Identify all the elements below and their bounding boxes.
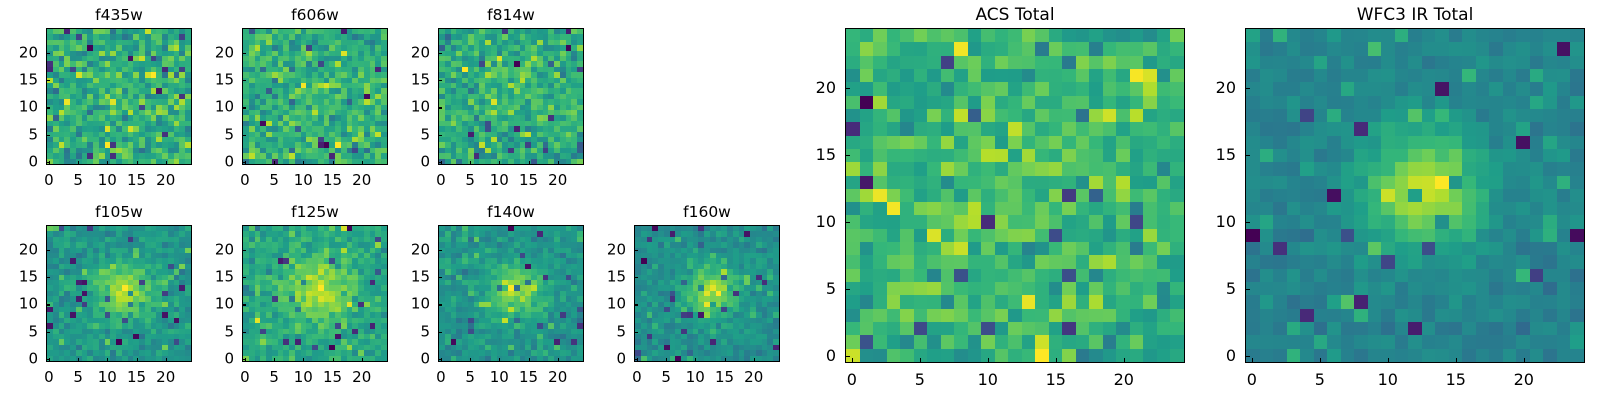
xtick-mark-f125w-5 (274, 358, 275, 362)
ytick-mark-acs-total-20 (845, 88, 850, 89)
xtick-mark-wfc3-ir-total-5 (1320, 358, 1321, 363)
xtick-mark-f435w-5 (78, 161, 79, 165)
panel-title-f105w: f105w (46, 203, 192, 221)
xtick-mark-f160w-15 (725, 358, 726, 362)
xtick-label-f814w-5: 5 (465, 173, 475, 188)
xtick-label-wfc3-ir-total-15: 15 (1446, 372, 1466, 388)
axes-f140w (438, 225, 584, 362)
ytick-mark-f125w-5 (242, 332, 246, 333)
xtick-label-f105w-0: 0 (44, 370, 54, 385)
heatmap-f125w (243, 226, 387, 361)
ytick-mark-f814w-20 (438, 53, 442, 54)
panel-f435w: f435w0510152005101520 (46, 4, 192, 191)
xtick-mark-acs-total-15 (1056, 358, 1057, 363)
xtick-label-acs-total-20: 20 (1114, 372, 1134, 388)
ytick-mark-acs-total-0 (845, 356, 850, 357)
axes-f606w (242, 28, 388, 165)
xtick-label-f160w-15: 15 (715, 370, 734, 385)
xtick-label-f606w-15: 15 (323, 173, 342, 188)
panel-title-f140w: f140w (438, 203, 584, 221)
xtick-label-f814w-20: 20 (548, 173, 567, 188)
heatmap-f435w (47, 29, 191, 164)
xtick-mark-f105w-0 (49, 358, 50, 362)
panel-f105w: f105w0510152005101520 (46, 201, 192, 388)
xtick-label-f160w-20: 20 (744, 370, 763, 385)
xtick-label-f125w-5: 5 (269, 370, 279, 385)
xtick-mark-f160w-20 (754, 358, 755, 362)
heatmap-wfc3-ir-total (1246, 29, 1584, 362)
xtick-mark-f606w-5 (274, 161, 275, 165)
ytick-mark-f160w-5 (634, 332, 638, 333)
xtick-mark-f140w-20 (558, 358, 559, 362)
heatmap-f140w (439, 226, 583, 361)
axes-wfc3-ir-total (1245, 28, 1585, 363)
xtick-mark-f160w-5 (666, 358, 667, 362)
ytick-mark-wfc3-ir-total-5 (1245, 289, 1250, 290)
xtick-label-f606w-10: 10 (294, 173, 313, 188)
ytick-mark-f125w-15 (242, 277, 246, 278)
xtick-label-f160w-5: 5 (661, 370, 671, 385)
axes-f435w (46, 28, 192, 165)
xtick-label-f140w-20: 20 (548, 370, 567, 385)
axes-f814w (438, 28, 584, 165)
xtick-label-f160w-0: 0 (632, 370, 642, 385)
xtick-label-f105w-10: 10 (98, 370, 117, 385)
xtick-mark-f435w-15 (137, 161, 138, 165)
xtick-mark-wfc3-ir-total-10 (1388, 358, 1389, 363)
xtick-label-f105w-5: 5 (73, 370, 83, 385)
xtick-mark-f435w-20 (166, 161, 167, 165)
ytick-mark-f435w-20 (46, 53, 50, 54)
xtick-label-f814w-15: 15 (519, 173, 538, 188)
ytick-mark-f105w-5 (46, 332, 50, 333)
ytick-mark-f606w-5 (242, 135, 246, 136)
xtick-label-f814w-0: 0 (436, 173, 446, 188)
ytick-mark-acs-total-15 (845, 155, 850, 156)
xtick-label-f435w-0: 0 (44, 173, 54, 188)
panel-title-wfc3-ir-total: WFC3 IR Total (1245, 5, 1585, 25)
xtick-label-f140w-0: 0 (436, 370, 446, 385)
xtick-label-acs-total-5: 5 (915, 372, 925, 388)
xtick-label-f125w-10: 10 (294, 370, 313, 385)
xtick-mark-f606w-0 (245, 161, 246, 165)
heatmap-f160w (635, 226, 779, 361)
ytick-mark-f140w-10 (438, 304, 442, 305)
xtick-label-wfc3-ir-total-0: 0 (1247, 372, 1257, 388)
ytick-mark-f814w-5 (438, 135, 442, 136)
xtick-label-f125w-0: 0 (240, 370, 250, 385)
ytick-mark-f140w-5 (438, 332, 442, 333)
xtick-mark-f140w-0 (441, 358, 442, 362)
axes-f105w (46, 225, 192, 362)
panel-f140w: f140w0510152005101520 (438, 201, 584, 388)
xtick-mark-wfc3-ir-total-15 (1456, 358, 1457, 363)
xtick-mark-wfc3-ir-total-20 (1524, 358, 1525, 363)
xtick-label-wfc3-ir-total-5: 5 (1315, 372, 1325, 388)
panel-f125w: f125w0510152005101520 (242, 201, 388, 388)
xtick-mark-f435w-10 (107, 161, 108, 165)
panel-f814w: f814w0510152005101520 (438, 4, 584, 191)
xtick-mark-f105w-20 (166, 358, 167, 362)
axes-acs-total (845, 28, 1185, 363)
xtick-mark-f814w-15 (529, 161, 530, 165)
xtick-mark-f160w-0 (637, 358, 638, 362)
ytick-mark-acs-total-10 (845, 222, 850, 223)
ytick-mark-f606w-15 (242, 80, 246, 81)
xtick-mark-f160w-10 (695, 358, 696, 362)
panel-wfc3-ir-total: WFC3 IR Total0510152005101520 (1245, 4, 1585, 389)
xtick-label-f140w-5: 5 (465, 370, 475, 385)
ytick-mark-f435w-10 (46, 107, 50, 108)
ytick-mark-f125w-20 (242, 250, 246, 251)
heatmap-f814w (439, 29, 583, 164)
xtick-label-f435w-10: 10 (98, 173, 117, 188)
panel-title-f435w: f435w (46, 6, 192, 24)
panel-f160w: f160w0510152005101520 (634, 201, 780, 388)
xtick-label-f435w-5: 5 (73, 173, 83, 188)
xtick-mark-f140w-15 (529, 358, 530, 362)
xtick-mark-f814w-20 (558, 161, 559, 165)
ytick-mark-f125w-10 (242, 304, 246, 305)
ytick-mark-wfc3-ir-total-0 (1245, 356, 1250, 357)
panel-title-f125w: f125w (242, 203, 388, 221)
xtick-label-f140w-10: 10 (490, 370, 509, 385)
xtick-mark-f814w-5 (470, 161, 471, 165)
xtick-mark-f814w-0 (441, 161, 442, 165)
xtick-label-f435w-15: 15 (127, 173, 146, 188)
ytick-mark-f160w-15 (634, 277, 638, 278)
xtick-label-f105w-15: 15 (127, 370, 146, 385)
ytick-mark-f140w-20 (438, 250, 442, 251)
xtick-label-wfc3-ir-total-10: 10 (1378, 372, 1398, 388)
ytick-mark-f606w-10 (242, 107, 246, 108)
xtick-mark-f606w-20 (362, 161, 363, 165)
xtick-mark-acs-total-10 (988, 358, 989, 363)
ytick-mark-f140w-15 (438, 277, 442, 278)
ytick-mark-f606w-20 (242, 53, 246, 54)
xtick-mark-acs-total-0 (852, 358, 853, 363)
heatmap-acs-total (846, 29, 1184, 362)
xtick-mark-acs-total-20 (1124, 358, 1125, 363)
xtick-mark-f105w-15 (137, 358, 138, 362)
panel-title-f160w: f160w (634, 203, 780, 221)
xtick-label-f435w-20: 20 (156, 173, 175, 188)
axes-f160w (634, 225, 780, 362)
ytick-mark-f105w-10 (46, 304, 50, 305)
xtick-mark-f125w-20 (362, 358, 363, 362)
xtick-mark-f606w-15 (333, 161, 334, 165)
xtick-mark-f606w-10 (303, 161, 304, 165)
xtick-label-f140w-15: 15 (519, 370, 538, 385)
xtick-label-wfc3-ir-total-20: 20 (1514, 372, 1534, 388)
xtick-mark-f140w-10 (499, 358, 500, 362)
xtick-label-f125w-20: 20 (352, 370, 371, 385)
xtick-mark-acs-total-5 (920, 358, 921, 363)
ytick-mark-f160w-20 (634, 250, 638, 251)
panel-acs-total: ACS Total0510152005101520 (845, 4, 1185, 389)
xtick-label-f105w-20: 20 (156, 370, 175, 385)
xtick-label-f606w-0: 0 (240, 173, 250, 188)
xtick-label-acs-total-10: 10 (978, 372, 998, 388)
xtick-label-acs-total-15: 15 (1046, 372, 1066, 388)
xtick-mark-f140w-5 (470, 358, 471, 362)
ytick-mark-f105w-15 (46, 277, 50, 278)
xtick-label-acs-total-0: 0 (847, 372, 857, 388)
ytick-mark-f435w-5 (46, 135, 50, 136)
xtick-mark-f105w-5 (78, 358, 79, 362)
ytick-mark-acs-total-5 (845, 289, 850, 290)
xtick-mark-f125w-10 (303, 358, 304, 362)
ytick-mark-f105w-20 (46, 250, 50, 251)
axes-f125w (242, 225, 388, 362)
panel-f606w: f606w0510152005101520 (242, 4, 388, 191)
ytick-mark-f435w-15 (46, 80, 50, 81)
xtick-label-f606w-5: 5 (269, 173, 279, 188)
xtick-mark-f435w-0 (49, 161, 50, 165)
xtick-mark-f125w-0 (245, 358, 246, 362)
xtick-label-f814w-10: 10 (490, 173, 509, 188)
heatmap-f105w (47, 226, 191, 361)
ytick-mark-wfc3-ir-total-10 (1245, 222, 1250, 223)
xtick-mark-f814w-10 (499, 161, 500, 165)
ytick-mark-f814w-15 (438, 80, 442, 81)
xtick-label-f606w-20: 20 (352, 173, 371, 188)
ytick-mark-f160w-10 (634, 304, 638, 305)
xtick-mark-wfc3-ir-total-0 (1252, 358, 1253, 363)
xtick-mark-f105w-10 (107, 358, 108, 362)
xtick-label-f160w-10: 10 (686, 370, 705, 385)
xtick-mark-f125w-15 (333, 358, 334, 362)
ytick-mark-wfc3-ir-total-15 (1245, 155, 1250, 156)
ytick-mark-wfc3-ir-total-20 (1245, 88, 1250, 89)
ytick-mark-f814w-10 (438, 107, 442, 108)
panel-title-f814w: f814w (438, 6, 584, 24)
panel-title-acs-total: ACS Total (845, 5, 1185, 25)
panel-title-f606w: f606w (242, 6, 388, 24)
xtick-label-f125w-15: 15 (323, 370, 342, 385)
heatmap-f606w (243, 29, 387, 164)
